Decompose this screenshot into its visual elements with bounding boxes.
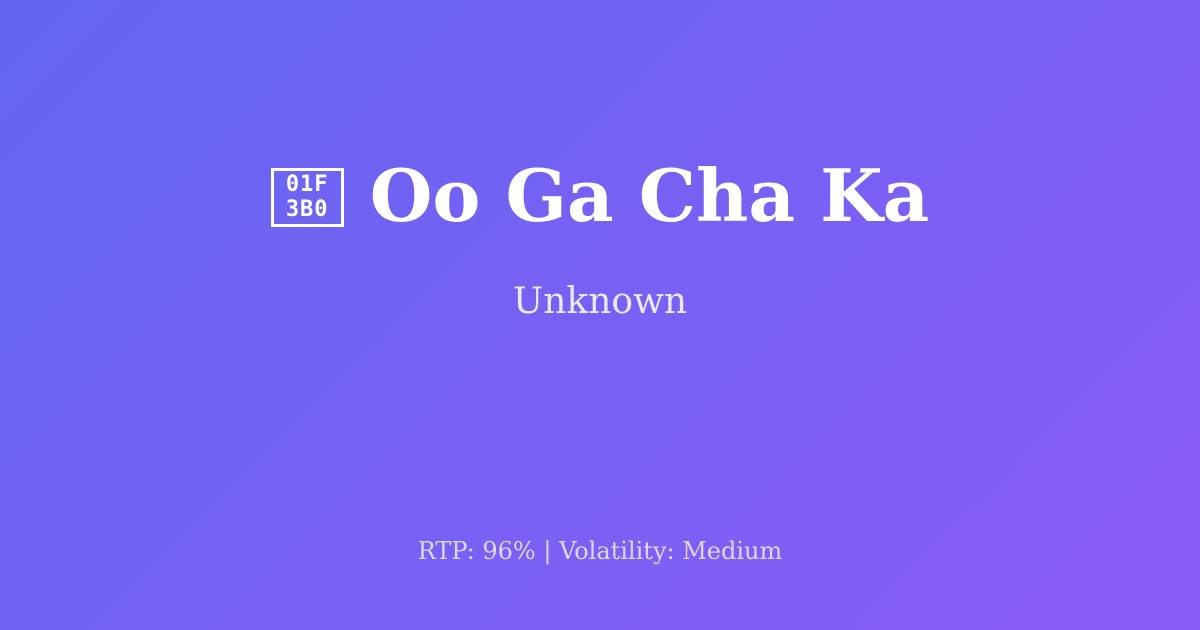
card-footer: RTP: 96% | Volatility: Medium — [0, 537, 1200, 566]
page-title-text: Oo Ga Cha Ka — [370, 157, 930, 235]
page-title: 01F 3B0 Oo Ga Cha Ka — [271, 157, 930, 235]
tofu-codepoint-lower: 3B0 — [286, 197, 329, 222]
page-subtitle: Unknown — [513, 280, 687, 323]
slot-machine-icon: 01F 3B0 — [271, 168, 344, 227]
card-main-content: 01F 3B0 Oo Ga Cha Ka Unknown — [0, 0, 1200, 480]
og-preview-card: 01F 3B0 Oo Ga Cha Ka Unknown RTP: 96% | … — [0, 0, 1200, 630]
game-meta-line: RTP: 96% | Volatility: Medium — [418, 537, 783, 566]
tofu-codepoint-upper: 01F — [286, 172, 329, 197]
